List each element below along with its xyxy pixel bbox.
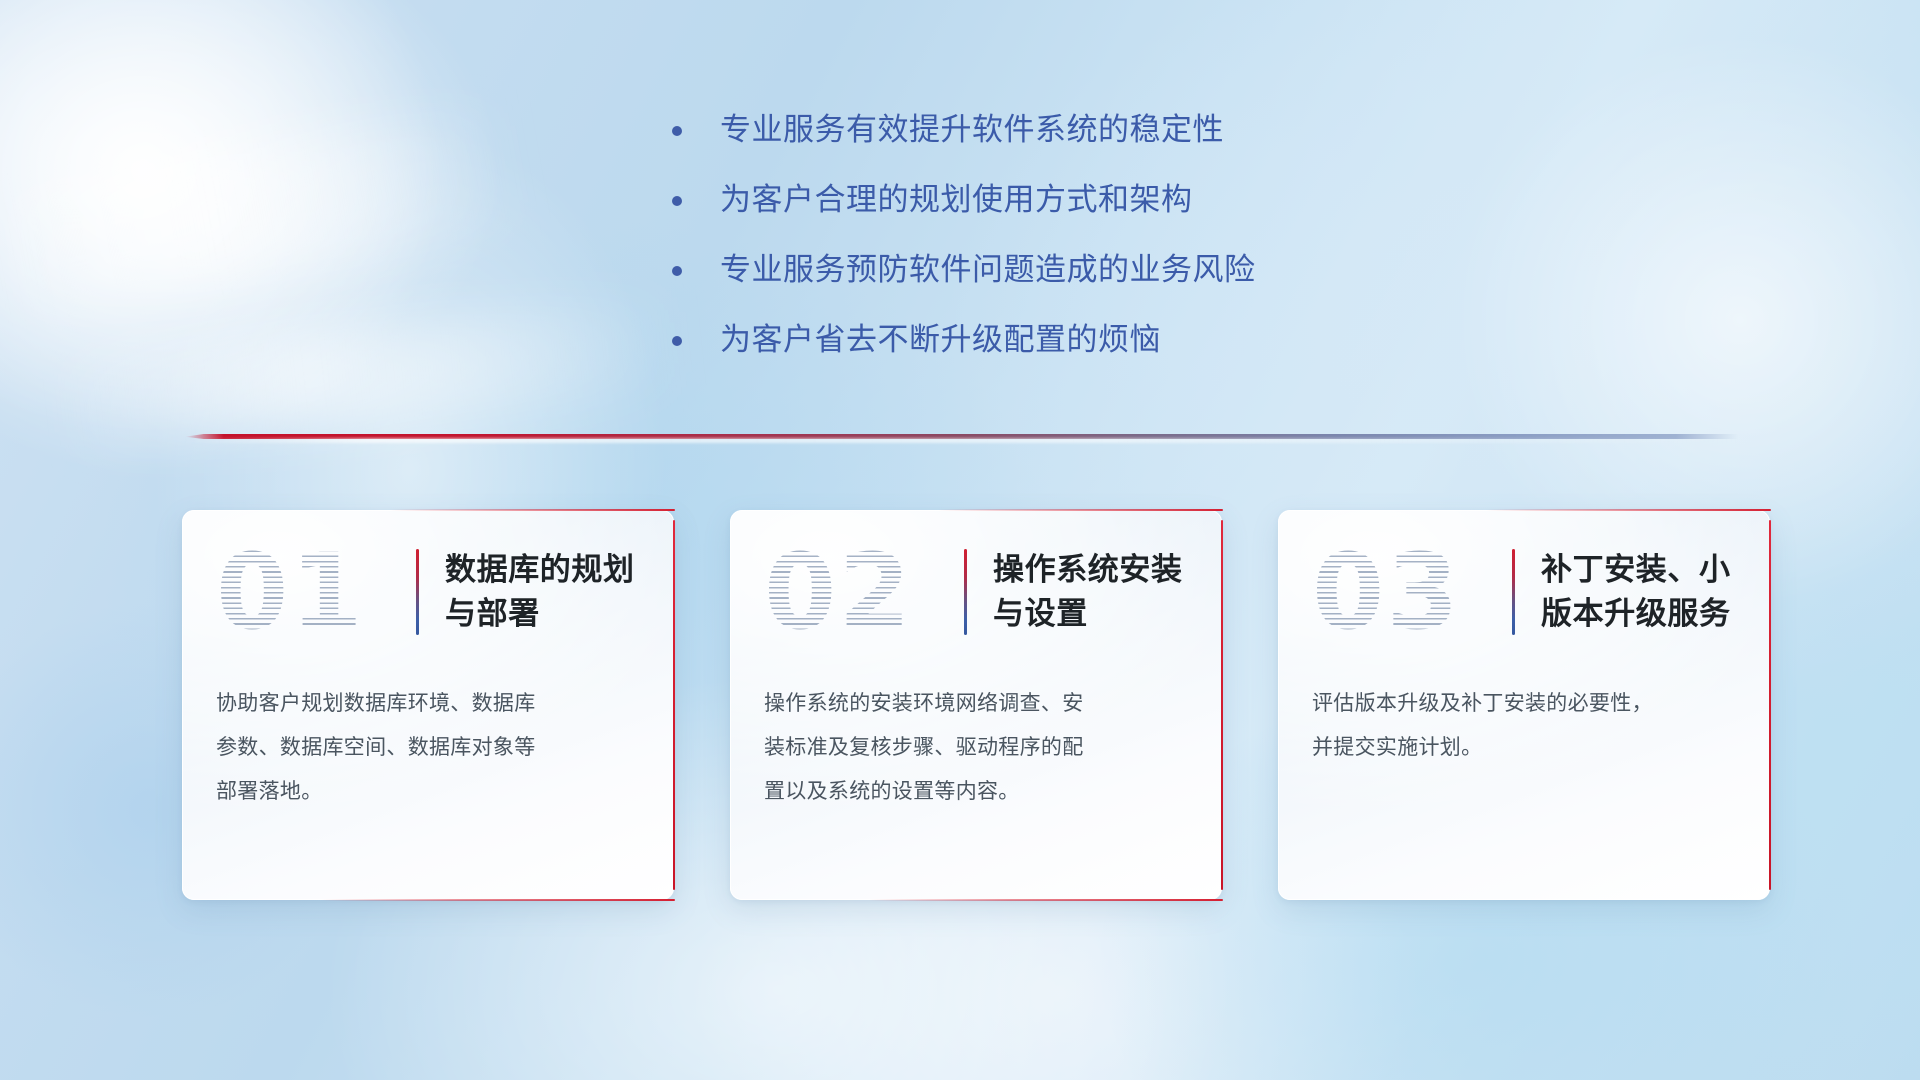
- card-title: 数据库的规划 与部署: [445, 548, 640, 636]
- bullet-item: 为客户省去不断升级配置的烦恼: [672, 320, 1492, 360]
- card-description: 评估版本升级及补丁安装的必要性， 并提交实施计划。: [1278, 642, 1770, 770]
- slide-canvas: 专业服务有效提升软件系统的稳定性 为客户合理的规划使用方式和架构 专业服务预防软…: [0, 0, 1920, 1080]
- card-accent-bottom: [869, 899, 1223, 901]
- card-header: 03 补丁安装、小 版本升级服务: [1278, 510, 1770, 642]
- section-divider: [185, 430, 1738, 444]
- bullet-dot-icon: [672, 196, 682, 206]
- card-accent-bottom: [321, 899, 675, 901]
- service-card-02[interactable]: 02 操作系统安装 与设置 操作系统的安装环境网络调查、安 装标准及复核步骤、驱…: [730, 510, 1222, 900]
- card-divider-bar: [416, 549, 419, 635]
- card-description: 操作系统的安装环境网络调查、安 装标准及复核步骤、驱动程序的配 置以及系统的设置…: [730, 642, 1222, 814]
- bullet-label: 专业服务有效提升软件系统的稳定性: [720, 110, 1224, 150]
- service-card-03[interactable]: 03 补丁安装、小 版本升级服务 评估版本升级及补丁安装的必要性， 并提交实施计…: [1278, 510, 1770, 900]
- card-header: 01 数据库的规划 与部署: [182, 510, 674, 642]
- card-title: 补丁安装、小 版本升级服务: [1541, 548, 1736, 636]
- background-light-streak-upper: [0, 106, 526, 314]
- bullet-dot-icon: [672, 266, 682, 276]
- bullet-label: 为客户省去不断升级配置的烦恼: [720, 320, 1161, 360]
- benefits-bullet-list: 专业服务有效提升软件系统的稳定性 为客户合理的规划使用方式和架构 专业服务预防软…: [672, 110, 1492, 390]
- bullet-dot-icon: [672, 126, 682, 136]
- service-card-list: 01 数据库的规划 与部署 协助客户规划数据库环境、数据库 参数、数据库空间、数…: [0, 510, 1920, 900]
- service-card-01[interactable]: 01 数据库的规划 与部署 协助客户规划数据库环境、数据库 参数、数据库空间、数…: [182, 510, 674, 900]
- card-description: 协助客户规划数据库环境、数据库 参数、数据库空间、数据库对象等 部署落地。: [182, 642, 674, 814]
- card-title: 操作系统安装 与设置: [993, 548, 1188, 636]
- background-light-streak-lower: [57, 298, 683, 452]
- bullet-label: 专业服务预防软件问题造成的业务风险: [720, 250, 1256, 290]
- card-number-watermark: 03: [1312, 540, 1512, 644]
- bullet-item: 专业服务有效提升软件系统的稳定性: [672, 110, 1492, 150]
- bullet-dot-icon: [672, 336, 682, 346]
- divider-gloss: [185, 438, 1738, 443]
- card-divider-bar: [964, 549, 967, 635]
- bullet-label: 为客户合理的规划使用方式和架构: [720, 180, 1193, 220]
- bullet-item: 为客户合理的规划使用方式和架构: [672, 180, 1492, 220]
- card-divider-bar: [1512, 549, 1515, 635]
- card-number-watermark: 01: [216, 540, 416, 644]
- bullet-item: 专业服务预防软件问题造成的业务风险: [672, 250, 1492, 290]
- background-glow-top-left: [0, 0, 460, 480]
- card-number-watermark: 02: [764, 540, 964, 644]
- card-header: 02 操作系统安装 与设置: [730, 510, 1222, 642]
